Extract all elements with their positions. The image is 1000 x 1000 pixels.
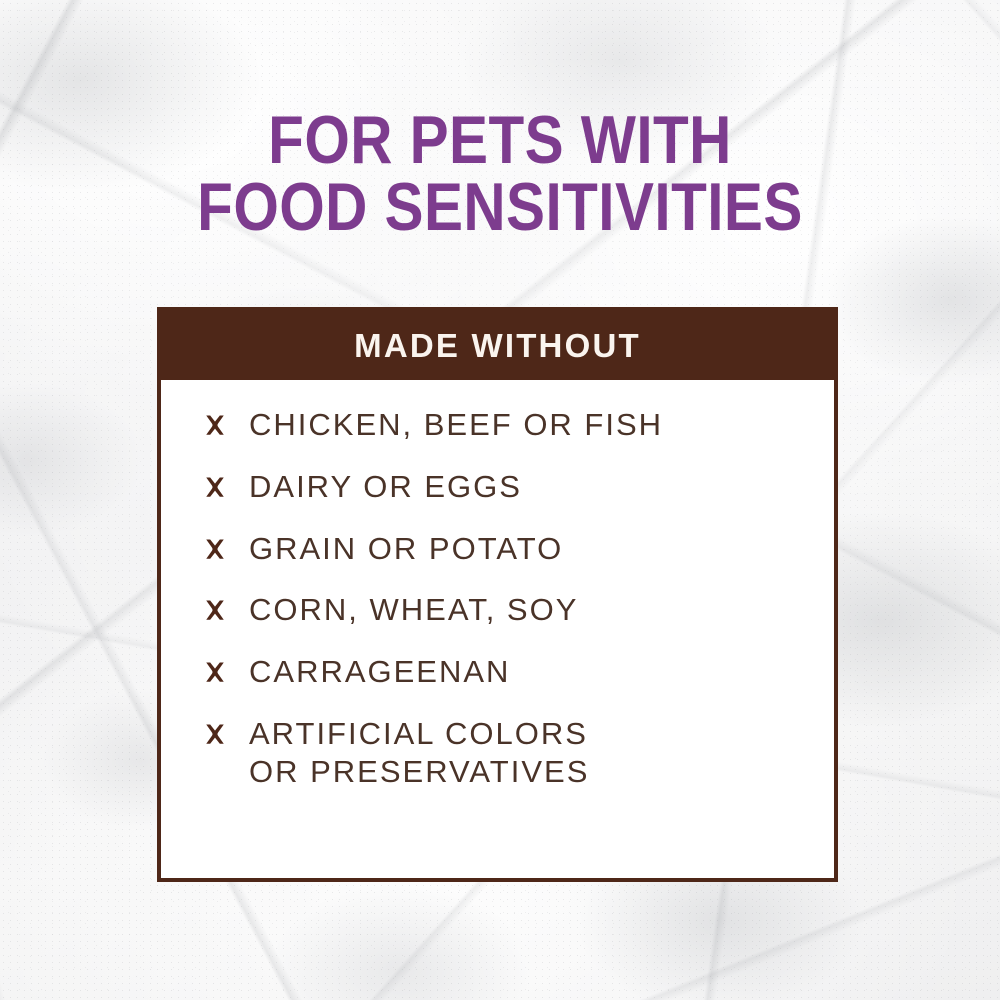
heavy-multiplication-x-icon — [201, 533, 229, 567]
list-item: ARTIFICIAL COLORS OR PRESERVATIVES — [201, 715, 810, 791]
list-item-label: CARRAGEENAN — [249, 653, 510, 691]
list-item-label: DAIRY OR EGGS — [249, 468, 522, 506]
heavy-multiplication-x-icon — [201, 471, 229, 505]
excluded-ingredients-list: CHICKEN, BEEF OR FISH DAIRY OR EGGS — [161, 406, 834, 791]
list-item-line: CARRAGEENAN — [249, 653, 510, 691]
list-item-label: CHICKEN, BEEF OR FISH — [249, 406, 663, 444]
made-without-card: MADE WITHOUT CHICKEN, BEEF OR FISH — [157, 307, 838, 882]
page-title-line-2: FOOD SENSITIVITIES — [70, 175, 930, 240]
list-item: GRAIN OR POTATO — [201, 530, 810, 568]
made-without-header-title: MADE WITHOUT — [354, 327, 641, 365]
list-item-line: OR PRESERVATIVES — [249, 753, 589, 791]
made-without-card-body: CHICKEN, BEEF OR FISH DAIRY OR EGGS — [161, 380, 834, 878]
page-title-line-1: FOR PETS WITH — [70, 108, 930, 173]
list-item-label: CORN, WHEAT, SOY — [249, 591, 578, 629]
list-item-label: ARTIFICIAL COLORS OR PRESERVATIVES — [249, 715, 589, 791]
heavy-multiplication-x-icon — [201, 656, 229, 690]
list-item: CHICKEN, BEEF OR FISH — [201, 406, 810, 444]
list-item: CORN, WHEAT, SOY — [201, 591, 810, 629]
heavy-multiplication-x-icon — [201, 594, 229, 628]
page-title: FOR PETS WITH FOOD SENSITIVITIES — [0, 108, 1000, 241]
list-item-label: GRAIN OR POTATO — [249, 530, 563, 568]
list-item-line: CHICKEN, BEEF OR FISH — [249, 406, 663, 444]
list-item-line: CORN, WHEAT, SOY — [249, 591, 578, 629]
list-item-line: ARTIFICIAL COLORS — [249, 715, 589, 753]
list-item: DAIRY OR EGGS — [201, 468, 810, 506]
list-item-line: GRAIN OR POTATO — [249, 530, 563, 568]
heavy-multiplication-x-icon — [201, 409, 229, 443]
product-claim-panel: FOR PETS WITH FOOD SENSITIVITIES MADE WI… — [0, 0, 1000, 1000]
list-item-line: DAIRY OR EGGS — [249, 468, 522, 506]
list-item: CARRAGEENAN — [201, 653, 810, 691]
heavy-multiplication-x-icon — [201, 718, 229, 752]
made-without-header: MADE WITHOUT — [161, 311, 834, 380]
